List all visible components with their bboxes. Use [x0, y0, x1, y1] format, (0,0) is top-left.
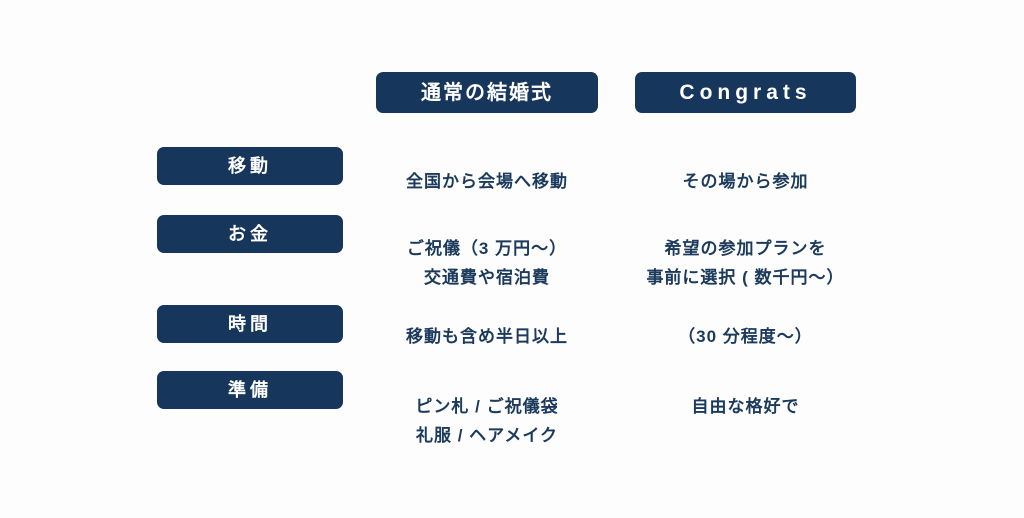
row-label-pill-jikan: 時間 [157, 305, 343, 343]
cell-traditional-okane: ご祝儀（3 万円〜） 交通費や宿泊費 [376, 234, 598, 292]
cell-congrats-junbi: 自由な格好で [635, 392, 856, 421]
cell-congrats-jikan: （30 分程度〜） [635, 322, 856, 351]
column-header-congrats-label: Congrats [679, 82, 811, 103]
comparison-table: 通常の結婚式 Congrats 移動 全国から会場へ移動 その場から参加 お金 … [0, 0, 1024, 518]
row-label-text-okane: お金 [228, 225, 272, 243]
row-label-pill-junbi: 準備 [157, 371, 343, 409]
cell-congrats-okane: 希望の参加プランを 事前に選択 ( 数千円〜） [635, 234, 856, 292]
row-label-pill-okane: お金 [157, 215, 343, 253]
row-label-pill-ido: 移動 [157, 147, 343, 185]
cell-traditional-ido: 全国から会場へ移動 [376, 167, 598, 196]
cell-traditional-junbi: ピン札 / ご祝儀袋 礼服 / ヘアメイク [376, 392, 598, 450]
column-header-traditional-label: 通常の結婚式 [421, 83, 553, 103]
column-header-congrats: Congrats [635, 72, 856, 113]
row-label-text-ido: 移動 [228, 157, 272, 175]
row-label-text-jikan: 時間 [228, 315, 272, 333]
column-header-traditional: 通常の結婚式 [376, 72, 598, 113]
cell-congrats-ido: その場から参加 [635, 167, 856, 196]
row-label-text-junbi: 準備 [228, 381, 272, 399]
cell-traditional-jikan: 移動も含め半日以上 [376, 322, 598, 351]
